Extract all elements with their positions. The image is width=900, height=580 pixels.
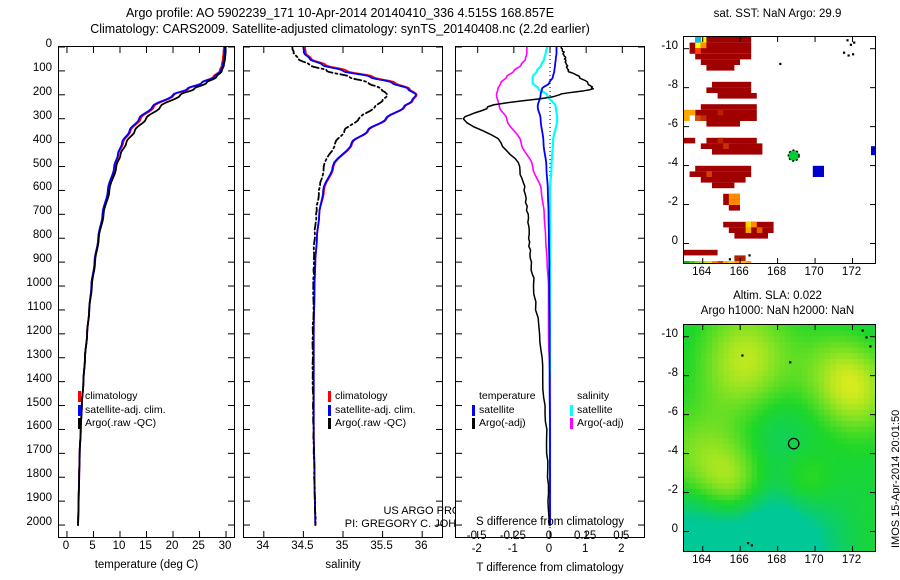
sst-lat-tick-0: 0 xyxy=(640,235,678,247)
legend-swatch xyxy=(570,405,573,416)
difference-plot-area xyxy=(456,47,644,537)
legend-item-2: Argo(.raw -QC) xyxy=(328,417,416,431)
legend-header: salinity xyxy=(570,390,624,404)
depth-tick-900: 900 xyxy=(0,253,52,265)
sla-lat-tick-neg8: -8 xyxy=(640,367,678,379)
depth-tick-1100: 1100 xyxy=(0,301,52,313)
legend-item-2: Argo(.raw -QC) xyxy=(78,417,166,431)
sst-lat-tick-neg6: -6 xyxy=(640,118,678,130)
depth-tick-1000: 1000 xyxy=(0,277,52,289)
depth-tick-400: 400 xyxy=(0,134,52,146)
legend-label: satellite-adj. clim. xyxy=(335,404,416,418)
page-title-line1: Argo profile: AO 5902239_171 10-Apr-2014… xyxy=(0,6,680,20)
legend-swatch xyxy=(328,391,331,402)
legend-swatch xyxy=(78,391,81,402)
legend-item-1: satellite-adj. clim. xyxy=(328,404,416,418)
legend-label: Argo(.raw -QC) xyxy=(335,417,406,431)
difference-legend-temperature: temperaturesatelliteArgo(-adj) xyxy=(472,390,536,431)
depth-tick-300: 300 xyxy=(0,110,52,122)
depth-tick-2000: 2000 xyxy=(0,516,52,528)
sla-lat-tick-neg6: -6 xyxy=(640,406,678,418)
imos-timestamp: IMOS 15-Apr-2014 20:01:50 xyxy=(890,410,900,548)
legend-label: satellite xyxy=(577,404,613,418)
sla-lat-tick-0: 0 xyxy=(640,523,678,535)
legend-header-label: salinity xyxy=(577,390,609,404)
legend-label: satellite-adj. clim. xyxy=(85,404,166,418)
depth-tick-1600: 1600 xyxy=(0,420,52,432)
legend-label: Argo(-adj) xyxy=(479,417,526,431)
sst-lat-tick-neg8: -8 xyxy=(640,79,678,91)
sla-map-image xyxy=(684,325,875,551)
depth-tick-1900: 1900 xyxy=(0,492,52,504)
temperature-legend: climatologysatellite-adj. clim.Argo(.raw… xyxy=(78,390,166,431)
depth-tick-1700: 1700 xyxy=(0,444,52,456)
legend-item-0: satellite xyxy=(570,404,624,418)
sla-lat-tick-neg4: -4 xyxy=(640,445,678,457)
depth-tick-600: 600 xyxy=(0,181,52,193)
depth-tick-800: 800 xyxy=(0,229,52,241)
sla-lat-tick-neg2: -2 xyxy=(640,484,678,496)
salinity-legend: climatologysatellite-adj. clim.Argo(.raw… xyxy=(328,390,416,431)
difference-profile-panel xyxy=(455,46,645,538)
salinity-axis-label: salinity xyxy=(243,559,443,571)
legend-header-label: temperature xyxy=(479,390,536,404)
legend-label: Argo(-adj) xyxy=(577,417,624,431)
legend-swatch xyxy=(328,418,331,429)
sst-map-panel[interactable] xyxy=(683,36,876,264)
legend-swatch xyxy=(472,405,475,416)
depth-tick-1400: 1400 xyxy=(0,373,52,385)
sst-lat-tick-neg4: -4 xyxy=(640,157,678,169)
salinity-difference-label: S difference from climatology xyxy=(450,516,650,528)
sal-tick-36: 36 xyxy=(393,540,449,552)
salinity-plot-area xyxy=(244,47,442,537)
legend-item-1: Argo(-adj) xyxy=(472,417,536,431)
sst-lat-tick-neg10: -10 xyxy=(640,40,678,52)
legend-label: Argo(.raw -QC) xyxy=(85,417,156,431)
temperature-plot-area xyxy=(59,47,234,537)
depth-tick-100: 100 xyxy=(0,62,52,74)
legend-label: satellite xyxy=(479,404,515,418)
temperature-axis-label: temperature (deg C) xyxy=(58,559,235,571)
legend-swatch xyxy=(570,418,573,429)
sst-lon-tick-172: 172 xyxy=(824,266,880,278)
legend-item-1: Argo(-adj) xyxy=(570,417,624,431)
legend-header: temperature xyxy=(472,390,536,404)
depth-tick-200: 200 xyxy=(0,86,52,98)
depth-tick-1300: 1300 xyxy=(0,349,52,361)
legend-label: climatology xyxy=(85,390,138,404)
legend-swatch xyxy=(472,418,475,429)
sla-lon-tick-172: 172 xyxy=(824,554,880,566)
page-title-line2: Climatology: CARS2009. Satellite-adjuste… xyxy=(0,22,680,36)
salinity-profile-panel xyxy=(243,46,443,538)
sst-lat-tick-neg2: -2 xyxy=(640,196,678,208)
sst-map-title: sat. SST: NaN Argo: 29.9 xyxy=(660,8,895,20)
tdiff-tick-2: 2 xyxy=(593,543,649,555)
depth-tick-1200: 1200 xyxy=(0,325,52,337)
sla-map-title-line2: Argo h1000: NaN h2000: NaN xyxy=(660,305,895,317)
sla-map-title-line1: Altim. SLA: 0.022 xyxy=(660,290,895,302)
depth-tick-0: 0 xyxy=(0,38,52,50)
legend-swatch xyxy=(78,418,81,429)
depth-tick-1500: 1500 xyxy=(0,397,52,409)
depth-tick-1800: 1800 xyxy=(0,468,52,480)
difference-legend-salinity: salinitysatelliteArgo(-adj) xyxy=(570,390,624,431)
legend-item-0: climatology xyxy=(78,390,166,404)
legend-item-0: climatology xyxy=(328,390,416,404)
legend-item-1: satellite-adj. clim. xyxy=(78,404,166,418)
depth-tick-700: 700 xyxy=(0,205,52,217)
temperature-difference-label: T difference from climatology xyxy=(450,562,650,574)
depth-tick-500: 500 xyxy=(0,158,52,170)
temperature-profile-panel xyxy=(58,46,235,538)
sla-lat-tick-neg10: -10 xyxy=(640,328,678,340)
legend-swatch xyxy=(78,405,81,416)
sla-map-panel[interactable] xyxy=(683,324,876,552)
legend-label: climatology xyxy=(335,390,388,404)
legend-swatch xyxy=(328,405,331,416)
legend-item-0: satellite xyxy=(472,404,536,418)
sst-map-image xyxy=(684,37,875,263)
